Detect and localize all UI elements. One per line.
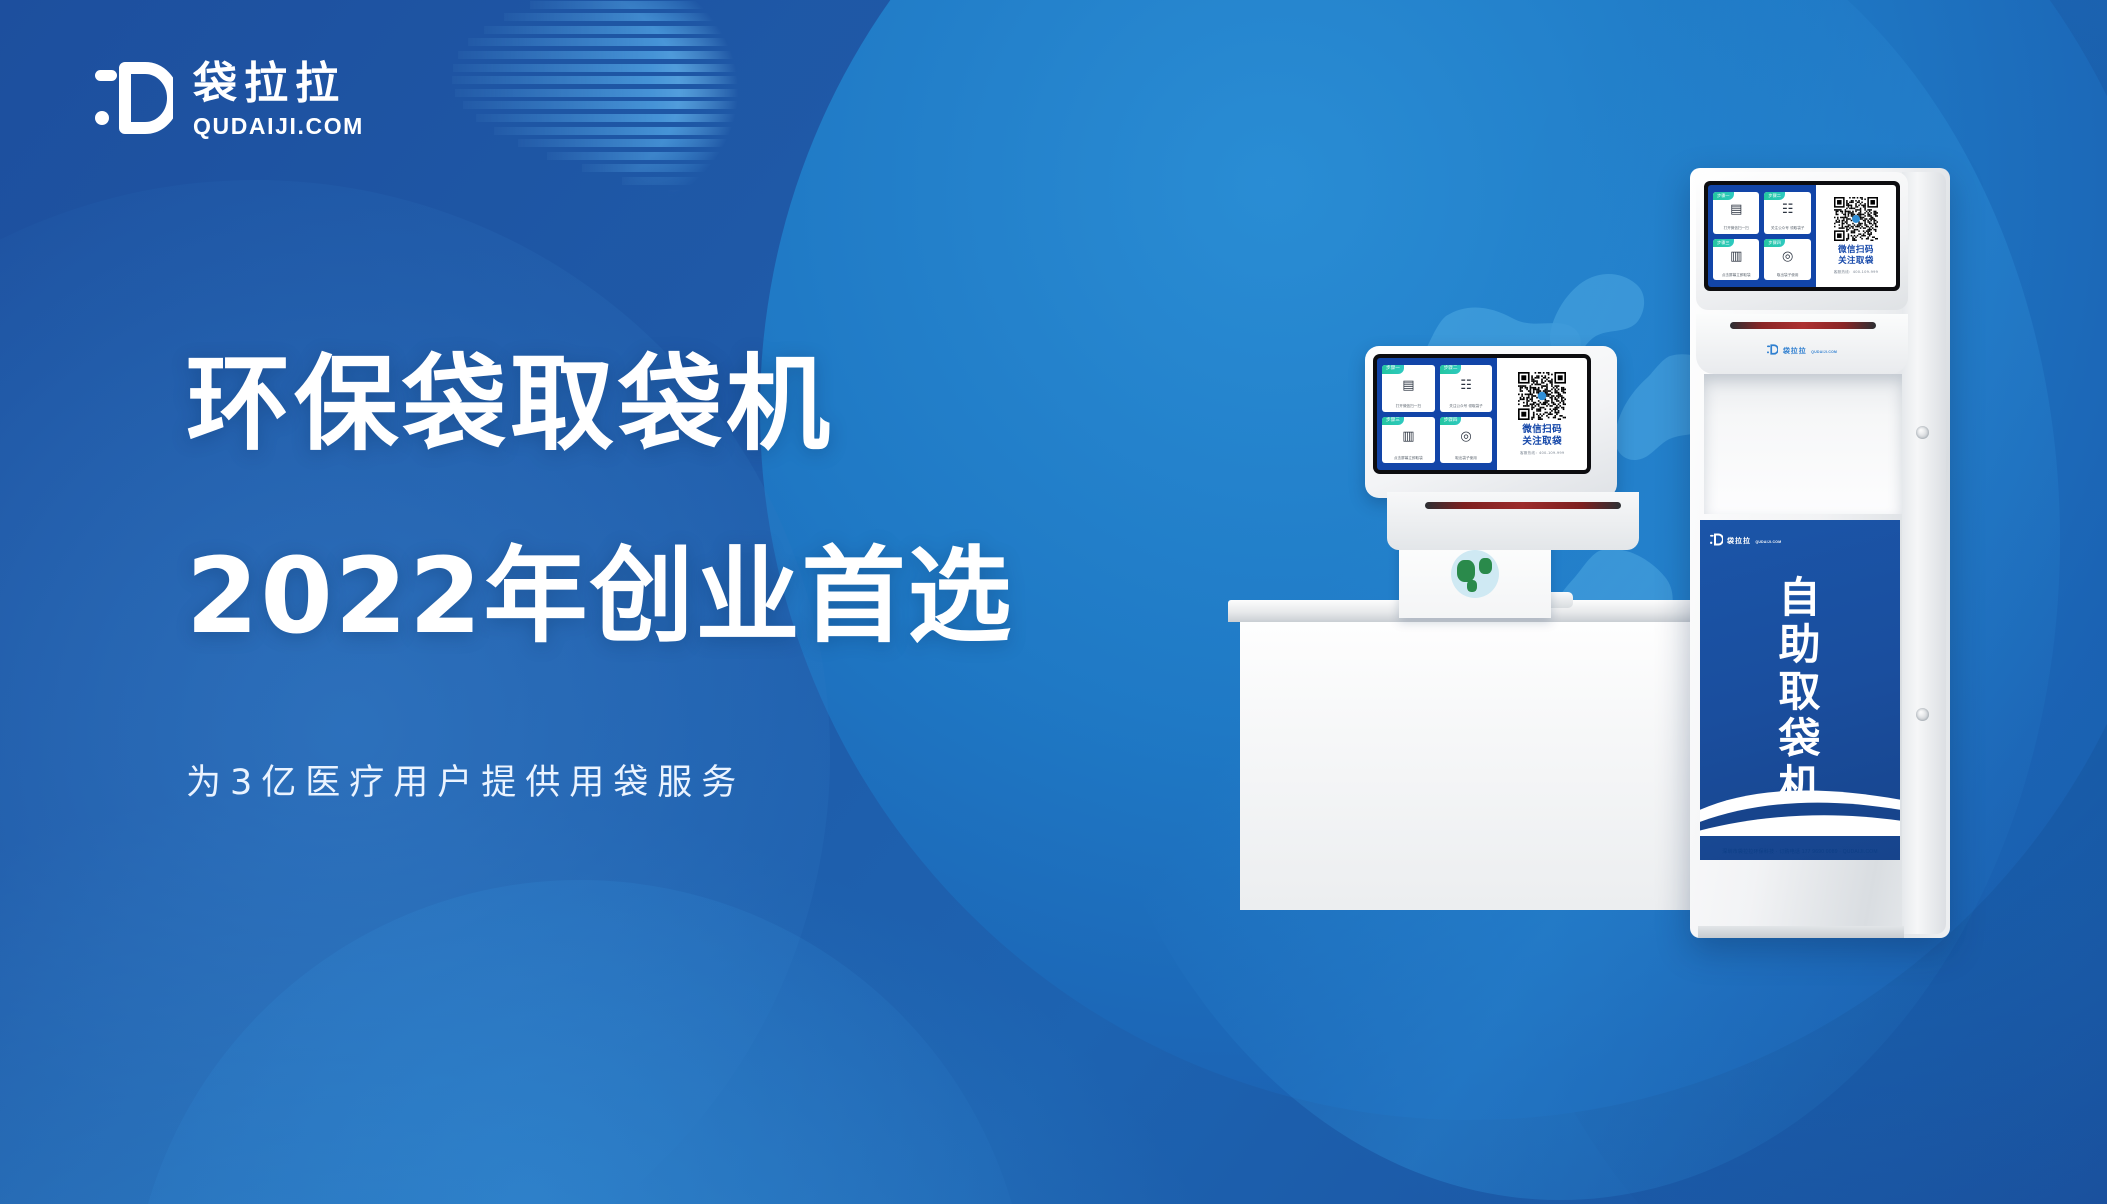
kiosk-knob-icon — [1916, 708, 1929, 721]
qr-panel: 微信扫码 关注取袋 客服热线：400-109-999 — [1816, 185, 1896, 287]
step-caption: 点击屏幕立即取袋 — [1394, 456, 1423, 460]
colon-d-logo-icon — [95, 62, 173, 134]
get-bag-icon: ◎ — [1460, 417, 1471, 456]
pay-order-icon: ▥ — [1402, 417, 1414, 456]
page-subtitle: 2022年创业首选 — [186, 544, 1013, 648]
step-card[interactable]: 步骤二 ☷ 关注公众号 领取袋子 — [1440, 365, 1493, 412]
green-earth-icon — [1451, 550, 1499, 598]
step-badge: 步骤三 — [1713, 239, 1734, 247]
step-caption: 关注公众号 领取袋子 — [1771, 226, 1805, 230]
kiosk-touchscreen[interactable]: 步骤一 ▤ 打开微信扫一扫 步骤二 ☷ 关注公众号 领取袋子 步骤三 ▥ — [1704, 181, 1900, 291]
step-badge: 步骤四 — [1764, 239, 1785, 247]
qr-title: 微信扫码 关注取袋 — [1522, 424, 1562, 448]
step-badge: 步骤一 — [1713, 192, 1734, 200]
panel-brand-cn: 袋拉拉 — [1727, 537, 1751, 545]
phone-scan-icon: ▤ — [1402, 365, 1414, 404]
brand-logo-text: 袋拉拉 QUDAIJI.COM — [193, 62, 364, 138]
wechat-qr-code-icon[interactable] — [1518, 372, 1566, 420]
step-card[interactable]: 步骤二 ☷ 关注公众号 领取袋子 — [1764, 192, 1810, 234]
service-hotline: 客服热线：400-109-999 — [1520, 451, 1564, 456]
panel-footer-text: 深圳市袋拉拉环保科技 · 订购电话 177 9690 0089 · QUDAIJ… — [1700, 848, 1900, 855]
panel-wave-decoration — [1700, 764, 1900, 836]
wechat-qr-code-icon[interactable] — [1834, 197, 1878, 241]
colon-d-logo-icon — [1710, 533, 1723, 546]
qr-title-line2: 关注取袋 — [1838, 256, 1874, 266]
follow-account-icon: ☷ — [1460, 365, 1472, 404]
step-badge: 步骤四 — [1440, 417, 1462, 426]
step-caption: 取出袋子使用 — [1455, 456, 1477, 460]
service-hotline: 客服热线：400-109-999 — [1834, 270, 1878, 275]
kiosk-dispenser-band: 袋拉拉 QUDAIJI.COM — [1696, 314, 1908, 374]
kiosk-side-panel — [1902, 172, 1946, 934]
service-counter — [1228, 600, 1748, 910]
step-badge: 步骤二 — [1440, 365, 1462, 374]
step-caption: 打开微信扫一扫 — [1396, 404, 1421, 408]
mini-touchscreen[interactable]: 步骤一 ▤ 打开微信扫一扫 步骤二 ☷ 关注公众号 领取袋子 步骤三 ▥ — [1373, 354, 1591, 474]
steps-grid: 步骤一 ▤ 打开微信扫一扫 步骤二 ☷ 关注公众号 领取袋子 步骤三 ▥ — [1377, 358, 1497, 470]
step-caption: 点击屏幕立即取袋 — [1722, 273, 1751, 277]
qr-panel: 微信扫码 关注取袋 客服热线：400-109-999 — [1497, 358, 1587, 470]
step-card[interactable]: 步骤三 ▥ 点击屏幕立即取袋 — [1713, 239, 1759, 281]
bg-stripe-fan — [452, 0, 812, 200]
brand-name-cn: 袋拉拉 — [193, 62, 364, 106]
brand-name-en: QUDAIJI.COM — [193, 115, 364, 138]
step-card[interactable]: 步骤三 ▥ 点击屏幕立即取袋 — [1382, 417, 1435, 464]
hero-banner: 袋拉拉 QUDAIJI.COM 环保袋取袋机 2022年创业首选 为3亿医疗用户… — [0, 0, 2107, 1204]
qr-title-line1: 微信扫码 — [1522, 424, 1562, 435]
brand-logo[interactable]: 袋拉拉 QUDAIJI.COM — [95, 62, 364, 138]
hero-copy: 环保袋取袋机 2022年创业首选 为3亿医疗用户提供用袋服务 — [186, 352, 1013, 805]
countertop-bag-dispenser[interactable]: 环保袋 爱地球 步骤一 ▤ 打开微信扫一扫 步骤二 — [1343, 346, 1643, 616]
step-badge: 步骤二 — [1764, 192, 1785, 200]
panel-brand-en: QUDAIJI.COM — [1755, 540, 1781, 544]
qr-title-line2: 关注取袋 — [1522, 436, 1562, 447]
kiosk-base — [1698, 926, 1904, 938]
mini-dispense-slot — [1425, 502, 1621, 509]
step-card[interactable]: 步骤四 ◎ 取出袋子使用 — [1440, 417, 1493, 464]
kiosk-screen-ui[interactable]: 步骤一 ▤ 打开微信扫一扫 步骤二 ☷ 关注公众号 领取袋子 步骤三 ▥ — [1377, 358, 1587, 470]
step-caption: 打开微信扫一扫 — [1724, 226, 1749, 230]
kiosk-dispenser-logo-cn: 袋拉拉 — [1783, 347, 1807, 355]
kiosk-pickup-alcove — [1704, 374, 1902, 514]
kiosk-dispenser-logo-en: QUDAIJI.COM — [1811, 350, 1837, 354]
kiosk-dispenser-logo: 袋拉拉 QUDAIJI.COM — [1696, 340, 1908, 358]
step-card[interactable]: 步骤一 ▤ 打开微信扫一扫 — [1713, 192, 1759, 234]
step-caption: 关注公众号 领取袋子 — [1449, 404, 1483, 408]
panel-brand-logo: 袋拉拉 QUDAIJI.COM — [1710, 530, 1781, 548]
step-caption: 取出袋子使用 — [1777, 273, 1799, 277]
kiosk-screen-ui[interactable]: 步骤一 ▤ 打开微信扫一扫 步骤二 ☷ 关注公众号 领取袋子 步骤三 ▥ — [1708, 185, 1896, 287]
mini-dispenser-body — [1387, 492, 1639, 550]
step-card[interactable]: 步骤四 ◎ 取出袋子使用 — [1764, 239, 1810, 281]
step-badge: 步骤一 — [1382, 365, 1404, 374]
kiosk-dispense-slot — [1730, 322, 1876, 329]
step-badge: 步骤三 — [1382, 417, 1404, 426]
qr-title-line1: 微信扫码 — [1838, 245, 1874, 255]
page-title: 环保袋取袋机 — [186, 352, 1013, 456]
kiosk-display-head: 步骤一 ▤ 打开微信扫一扫 步骤二 ☷ 关注公众号 领取袋子 步骤三 ▥ — [1696, 172, 1908, 310]
mini-display-head: 步骤一 ▤ 打开微信扫一扫 步骤二 ☷ 关注公众号 领取袋子 步骤三 ▥ — [1365, 346, 1617, 498]
step-card[interactable]: 步骤一 ▤ 打开微信扫一扫 — [1382, 365, 1435, 412]
steps-grid: 步骤一 ▤ 打开微信扫一扫 步骤二 ☷ 关注公众号 领取袋子 步骤三 ▥ — [1708, 185, 1816, 287]
counter-front-panel — [1240, 622, 1736, 910]
self-service-bag-kiosk[interactable]: 步骤一 ▤ 打开微信扫一扫 步骤二 ☷ 关注公众号 领取袋子 步骤三 ▥ — [1690, 168, 1950, 938]
qr-title: 微信扫码 关注取袋 — [1838, 245, 1874, 266]
colon-d-logo-icon — [1767, 344, 1778, 355]
kiosk-knob-top-icon — [1916, 426, 1929, 439]
hero-tagline: 为3亿医疗用户提供用袋服务 — [186, 754, 1013, 805]
kiosk-branding-panel: 袋拉拉 QUDAIJI.COM 自助取袋机 深圳市袋拉拉环保科技 · 订购电话 … — [1700, 520, 1900, 860]
